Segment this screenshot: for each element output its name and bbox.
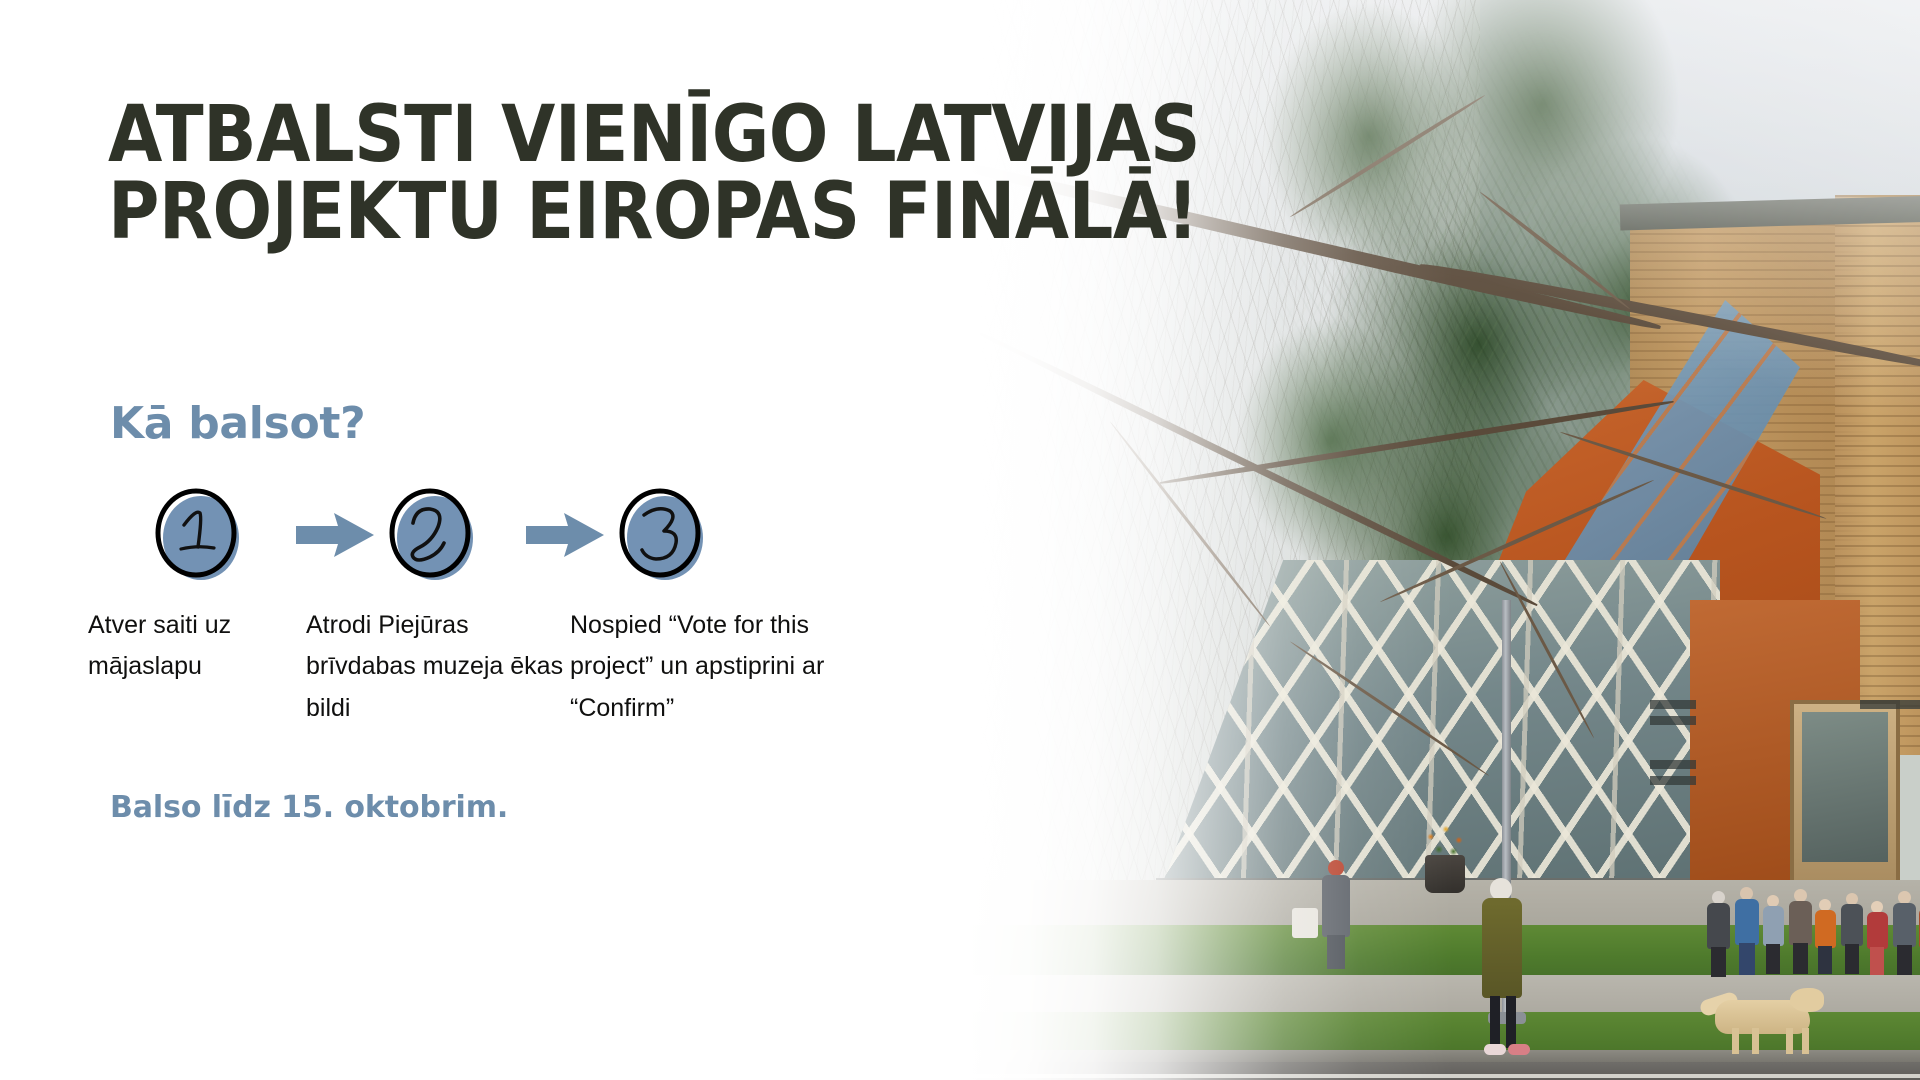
shopping-bag [1292,908,1318,938]
flowers [1420,820,1474,862]
step-text-1: Atver saiti uz mājaslapu [88,605,328,688]
wall-sign-3 [1650,760,1696,769]
headline-line-1: ATBALSTI VIENĪGO LATVIJAS [108,97,1268,174]
headline-line-2: PROJEKTU EIROPAS FINĀLĀ! [108,174,1268,251]
wall-sign-2 [1650,716,1696,725]
step-badge-1: 1 [148,485,248,585]
page-title: ATBALSTI VIENĪGO LATVIJAS PROJEKTU EIROP… [108,97,1268,251]
voting-deadline: Balso līdz 15. oktobrim. [110,790,508,825]
arrow-step-1-to-2 [296,513,374,557]
step-badge-2: 2 [382,485,482,585]
arrow-step-2-to-3 [526,513,604,557]
building-door-glass [1802,712,1888,862]
subheading-how-to-vote: Kā balsot? [110,398,365,449]
wall-sign-4 [1650,776,1696,785]
step-text-2: Atrodi Piejūras brīvdabas muzeja ēkas bi… [306,605,566,729]
wall-sign-1 [1650,700,1696,709]
step-text-3: Nospied “Vote for this project” un apsti… [570,605,880,729]
step-badges-row: 1 2 [100,485,1080,595]
dog-leg-2 [1752,1028,1759,1054]
visitor-crowd [1705,885,1920,990]
wall-sign-5 [1860,700,1920,709]
dog-leg-4 [1802,1028,1809,1054]
dog-leg-1 [1732,1028,1739,1054]
slide-canvas: ATBALSTI VIENĪGO LATVIJAS PROJEKTU EIROP… [0,0,1920,1080]
dog-leg-3 [1786,1028,1793,1054]
dog-head [1790,988,1824,1012]
content-column: ATBALSTI VIENĪGO LATVIJAS PROJEKTU EIROP… [0,0,1100,1080]
step-badge-3: 3 [612,485,712,585]
